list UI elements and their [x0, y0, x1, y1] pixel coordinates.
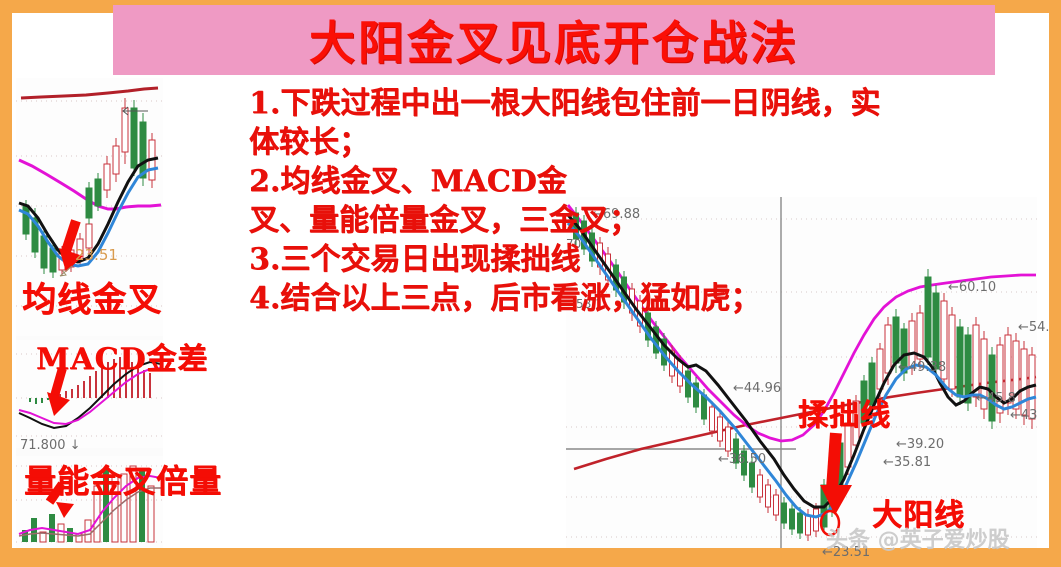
strategy-line-2: 体较长； — [249, 123, 1009, 162]
title-banner: 大阳金叉见底开仓战法 — [113, 5, 995, 75]
left-volume-label: 71.800 ↓ — [20, 438, 81, 453]
annotation-volume-cross: 量能金叉倍量 — [24, 456, 222, 502]
annotation-macd-cross: MACD金差 — [36, 334, 208, 378]
price-tag-4496: ←44.96 — [733, 381, 781, 396]
strategy-line-5: 3.三个交易日出现揉拙线 — [249, 240, 1009, 279]
price-tag-3650: ←36.50 — [718, 452, 766, 467]
annotation-ma-cross: 均线金叉 — [22, 272, 162, 321]
price-tag-54: ←54. — [1018, 320, 1050, 335]
left-price-label: 23.51 — [75, 246, 118, 264]
strategy-line-3: 2.均线金叉、MACD金 — [249, 162, 1009, 201]
price-tag-4938: ←49.38 — [898, 360, 946, 375]
price-tag-458: ←45.8 — [976, 391, 1016, 406]
price-tag-3920: ←39.20 — [896, 437, 944, 452]
strategy-description: 1.下跌过程中出一根大阳线包住前一日阴线，实 体较长； 2.均线金叉、MACD金… — [249, 84, 1009, 318]
watermark: 头条 @英子爱炒股 — [826, 522, 1010, 554]
strategy-line-1: 1.下跌过程中出一根大阳线包住前一日阴线，实 — [249, 84, 1009, 123]
strategy-line-4: 叉、量能倍量金叉，三金叉； — [249, 201, 1009, 240]
page-title: 大阳金叉见底开仓战法 — [309, 7, 799, 73]
price-tag-43: ←43 — [1010, 408, 1037, 423]
annotation-rouzhuo-line: 揉拙线 — [798, 390, 891, 434]
strategy-line-6: 4.结合以上三点，后市看涨，猛如虎； — [249, 279, 1009, 318]
price-tag-3581: ←35.81 — [883, 455, 931, 470]
